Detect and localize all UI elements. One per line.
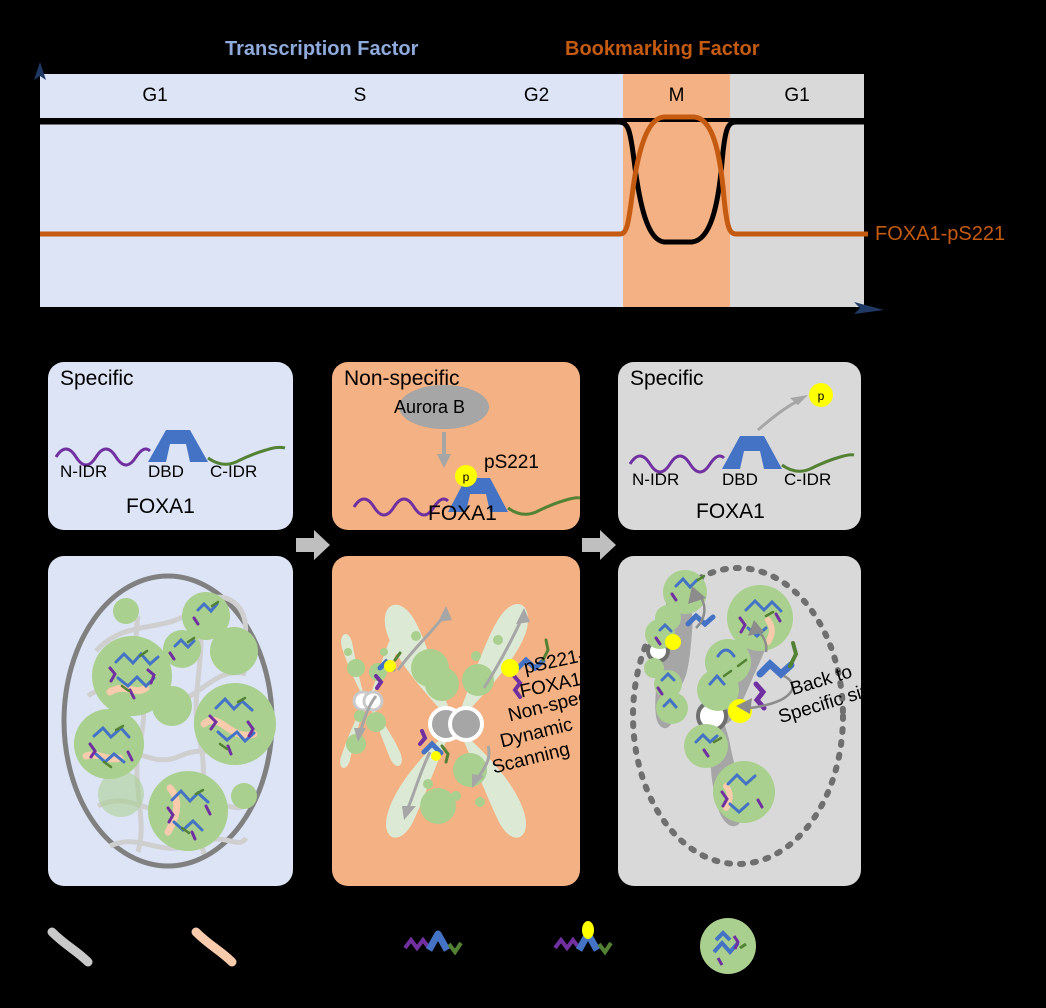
domain-label-dbd-1: DBD	[148, 462, 184, 482]
kinase-label-aurora-b: Aurora B	[394, 397, 465, 418]
free-foxa1-n-idr	[756, 684, 764, 708]
protein-name-foxa1-1: FOXA1	[126, 495, 195, 519]
foxa1-ps221-series-label: FOXA1-pS221	[875, 223, 1005, 246]
step-arrow-2	[582, 530, 616, 560]
foxa1-ps221-trace	[40, 117, 868, 234]
dbd-arch-icon	[722, 436, 782, 469]
legend-icons	[0, 900, 1046, 1008]
phospho-badge-icon	[665, 634, 681, 650]
domain-label-n-idr-1: N-IDR	[60, 462, 107, 482]
cell-panel-mitosis: pS221- FOXA1 Non-spec Dynamic Scanning	[332, 556, 580, 886]
condensate-hub-icon	[700, 918, 756, 974]
foxa1-phospho-protein-icon	[555, 921, 611, 952]
x-axis-arrowhead	[854, 302, 884, 314]
phospho-badge-icon	[431, 751, 441, 761]
domain-label-c-idr-3: C-IDR	[784, 470, 831, 490]
cell-cycle-chart: Transcription Factor Bookmarking Factor …	[0, 0, 1046, 330]
c-idr-squiggle-icon	[782, 455, 854, 472]
postmitotic-nucleus-illustration	[618, 556, 861, 886]
c-idr-squiggle-icon	[508, 498, 580, 515]
dbd-arch-icon	[148, 430, 208, 462]
free-foxa1-c-idr	[790, 643, 796, 666]
phospho-badge-letter: p	[818, 389, 825, 403]
chart-traces	[0, 0, 1046, 330]
phospho-badge-letter: p	[463, 470, 470, 484]
protein-name-foxa1-3: FOXA1	[696, 500, 765, 524]
step-arrow-1	[296, 530, 330, 560]
schematic-panel-postmitosis: Specific p N-IDR DBD C-IDR FOXA1	[618, 362, 861, 530]
kinase-arrowhead	[437, 454, 451, 468]
domain-label-c-idr-1: C-IDR	[210, 462, 257, 482]
schematic-panel-interphase: Specific N-IDR DBD C-IDR FOXA1	[48, 362, 293, 530]
foxa1-binding-trace	[40, 122, 864, 242]
phospho-site-label-ps221: pS221	[484, 452, 539, 474]
protein-name-foxa1-2: FOXA1	[428, 502, 497, 526]
peach-dna-strand-icon	[196, 932, 232, 962]
cell-panel-interphase	[48, 556, 293, 886]
condensate-hubs	[644, 570, 793, 823]
cell-panel-postmitosis: Back to Specific site	[618, 556, 861, 886]
interphase-nucleus-illustration	[48, 556, 293, 886]
domain-label-n-idr-3: N-IDR	[632, 470, 679, 490]
centromere-icon	[450, 708, 482, 740]
legend-row	[0, 900, 1046, 1008]
y-axis-arrowhead	[34, 62, 46, 80]
phospho-badge-icon	[501, 659, 519, 677]
foxa1-protein-icon	[405, 934, 461, 952]
dephospho-arrow-line	[758, 400, 800, 430]
domain-label-dbd-3: DBD	[722, 470, 758, 490]
gray-dna-strand-icon	[52, 932, 88, 962]
schematic-panel-mitosis: Non-specific p Aurora B pS221 FOXA1	[332, 362, 580, 530]
phospho-badge-icon	[384, 660, 396, 672]
free-foxa1-dbd	[760, 664, 791, 674]
